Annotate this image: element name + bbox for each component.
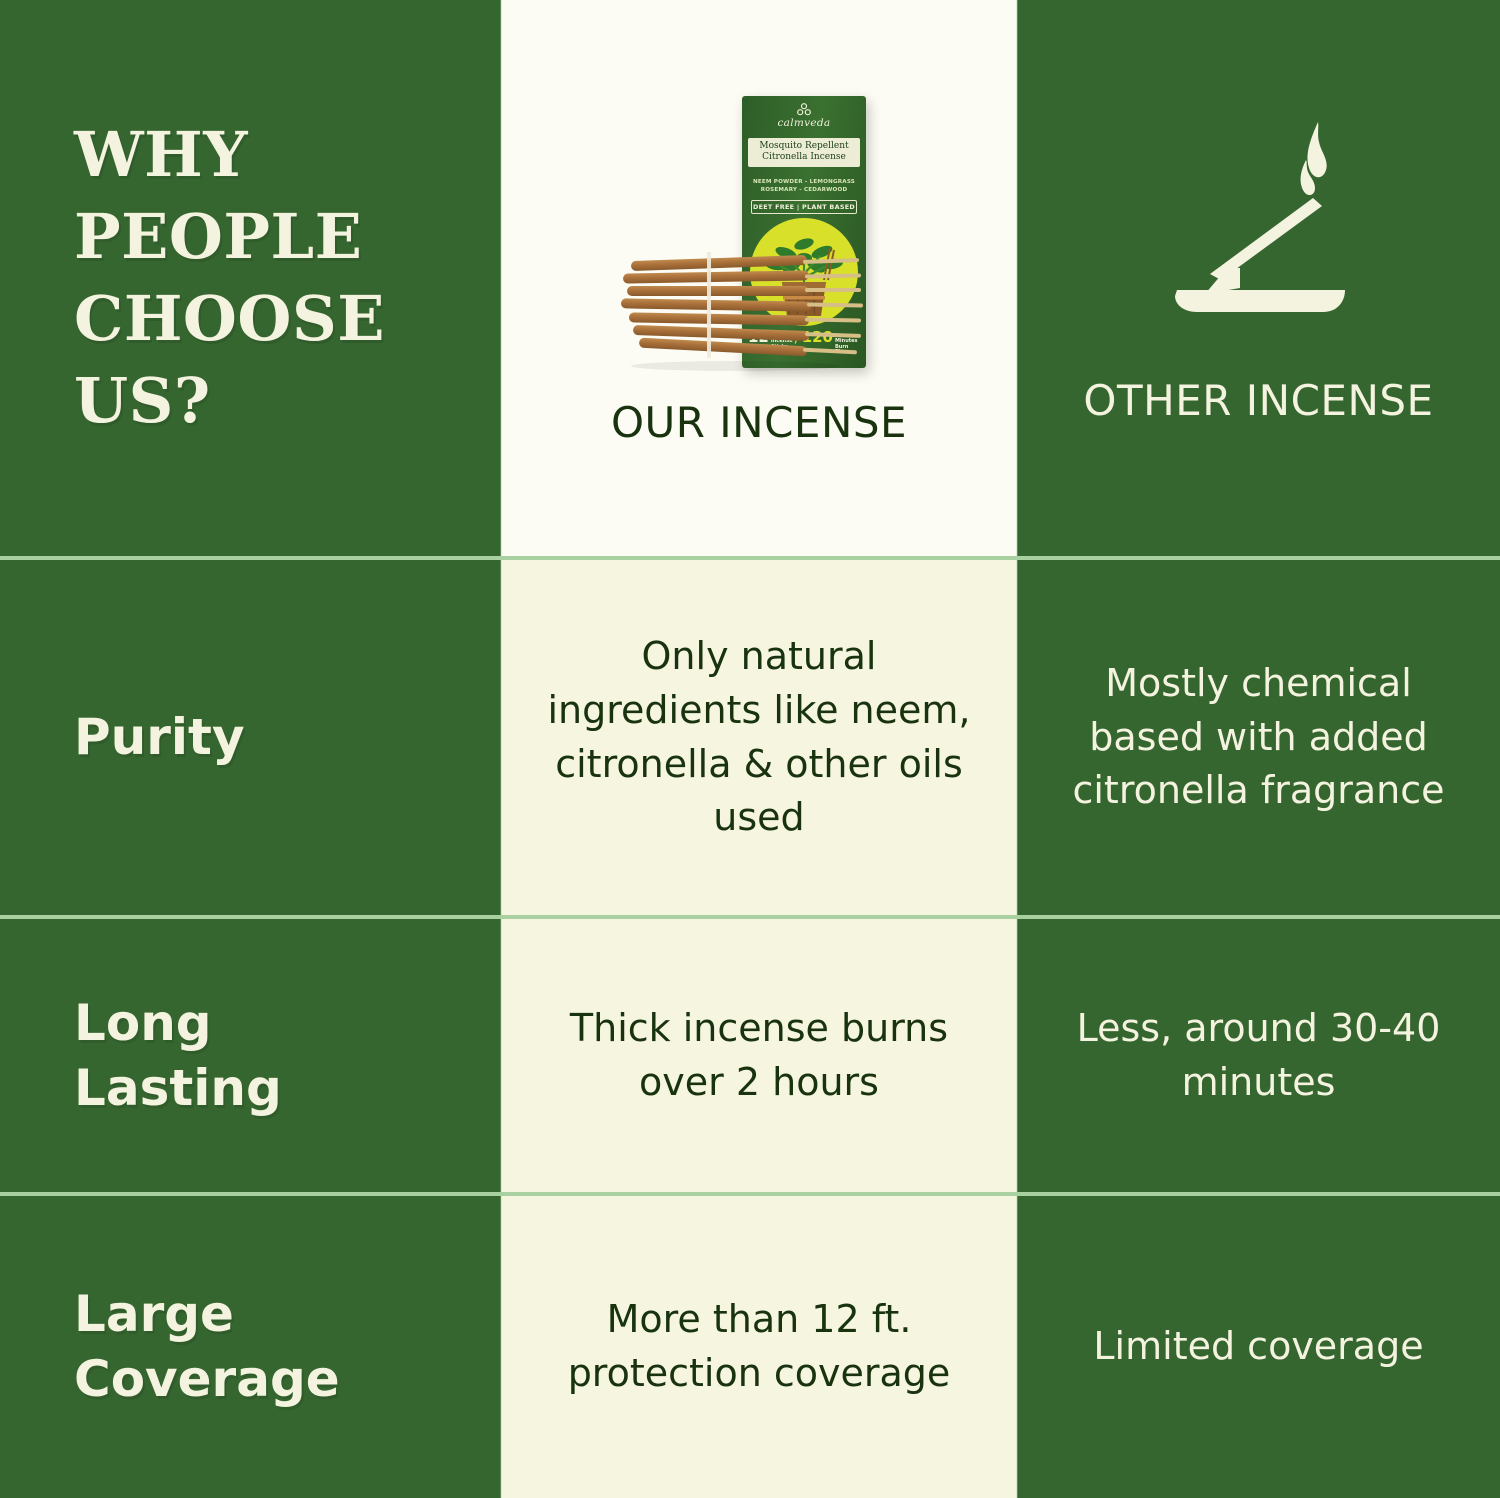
package-ingredients: NEEM POWDER - LEMONGRASS ROSEMARY - CEDA… — [746, 178, 862, 195]
comparison-chart: WHY PEOPLE CHOOSE US? calmveda Mosquito … — [0, 0, 1500, 1498]
package-brand-name: calmveda — [742, 117, 866, 129]
our-value-large-coverage: More than 12 ft. protection coverage — [501, 1196, 1017, 1498]
our-incense-label: OUR INCENSE — [611, 398, 907, 447]
page-title: WHY PEOPLE CHOOSE US? — [74, 114, 501, 441]
package-deet-free-badge: DEET FREE | PLANT BASED — [751, 200, 857, 214]
feature-label-long-lasting-line1: Long — [74, 991, 282, 1056]
incense-sticks-bundle-icon — [615, 240, 875, 372]
package-product-name: Mosquito Repellent Citronella Incense — [748, 138, 860, 167]
package-logo: calmveda — [742, 103, 866, 129]
feature-label-large-coverage-line1: Large — [74, 1282, 340, 1347]
our-incense-header-cell: calmveda Mosquito Repellent Citronella I… — [501, 0, 1017, 556]
package-ingredients-line1: NEEM POWDER - LEMONGRASS — [746, 178, 862, 186]
burning-incense-stick-holder-icon — [1109, 108, 1409, 358]
feature-label-long-lasting: Long Lasting — [0, 919, 501, 1192]
feature-label-purity: Purity — [0, 560, 501, 915]
feature-label-long-lasting-line2: Lasting — [74, 1056, 282, 1121]
feature-label-large-coverage-line2: Coverage — [74, 1347, 340, 1412]
feature-label-purity-text: Purity — [74, 705, 245, 770]
product-package-image: calmveda Mosquito Repellent Citronella I… — [609, 92, 909, 392]
trefoil-logo-icon — [796, 103, 812, 116]
package-product-name-line2: Citronella Incense — [750, 152, 858, 163]
package-ingredients-line2: ROSEMARY - CEDARWOOD — [746, 186, 862, 194]
other-incense-label: OTHER INCENSE — [1083, 376, 1433, 425]
other-incense-header-cell: OTHER INCENSE — [1017, 0, 1500, 556]
page-title-cell: WHY PEOPLE CHOOSE US? — [0, 0, 501, 556]
package-product-name-line1: Mosquito Repellent — [750, 141, 858, 152]
our-value-long-lasting: Thick incense burns over 2 hours — [501, 919, 1017, 1192]
other-value-long-lasting: Less, around 30-40 minutes — [1017, 919, 1500, 1192]
other-value-purity: Mostly chemical based with added citrone… — [1017, 560, 1500, 915]
feature-label-large-coverage: Large Coverage — [0, 1196, 501, 1498]
other-value-large-coverage: Limited coverage — [1017, 1196, 1500, 1498]
our-value-purity: Only natural ingredients like neem, citr… — [501, 560, 1017, 915]
